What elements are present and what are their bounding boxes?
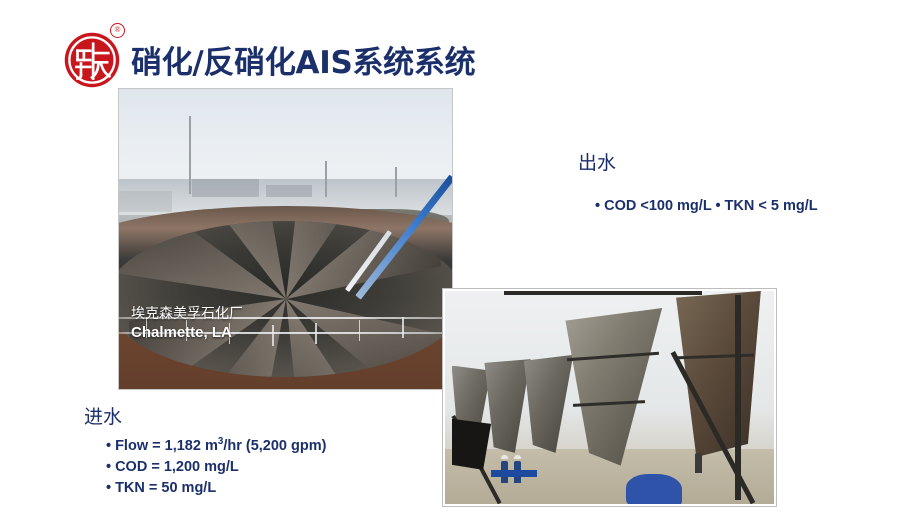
worker-figure <box>695 453 702 473</box>
worker-helmet <box>514 455 521 459</box>
page-title: 硝化/反硝化AIS系统系统 <box>131 37 475 82</box>
effluent-text-block: 出水 • COD <100 mg/L • TKN < 5 mg/L <box>578 152 908 214</box>
railing-post <box>272 325 274 346</box>
influent-cod: COD = 1,200 mg/L <box>115 459 239 475</box>
steel-hopper-cones-photo <box>443 289 776 506</box>
influent-flow-post: /hr (5,200 gpm) <box>223 438 326 454</box>
effluent-heading: 出水 <box>578 152 908 175</box>
bullet-glyph: • <box>106 438 111 454</box>
zhang-seal-icon <box>63 31 121 89</box>
list-item: •Flow = 1,182 m3/hr (5,200 gpm) <box>106 435 414 457</box>
worker-helmet <box>501 455 508 459</box>
influent-text-block: 进水 •Flow = 1,182 m3/hr (5,200 gpm) •COD … <box>84 406 414 500</box>
bullet-glyph: • <box>106 459 111 475</box>
overhead-beam <box>504 291 701 295</box>
registered-trademark-icon: ® <box>110 23 125 38</box>
caption-chinese: 埃克森美孚石化厂 <box>131 305 243 323</box>
slide-header: ® 硝化/反硝化AIS系统系统 <box>0 0 920 92</box>
photo-caption: 埃克森美孚石化厂 Chalmette, LA <box>131 305 243 343</box>
list-item: •TKN = 50 mg/L <box>106 478 414 499</box>
blue-equipment <box>491 470 537 477</box>
railing-post <box>315 323 317 344</box>
influent-bullet-list: •Flow = 1,182 m3/hr (5,200 gpm) •COD = 1… <box>106 435 414 500</box>
effluent-bullet-line: • COD <100 mg/L • TKN < 5 mg/L <box>595 198 908 214</box>
circular-steel-tank-photo: 埃克森美孚石化厂 Chalmette, LA <box>118 88 453 390</box>
caption-english: Chalmette, LA <box>131 323 243 343</box>
railing-post <box>402 317 404 338</box>
bullet-glyph: • <box>106 480 111 496</box>
influent-flow-pre: Flow = 1,182 m <box>115 438 218 454</box>
influent-heading: 进水 <box>84 406 414 429</box>
company-logo: ® <box>63 23 129 89</box>
slide-canvas: ® 硝化/反硝化AIS系统系统 <box>0 0 920 518</box>
list-item: •COD = 1,200 mg/L <box>106 457 414 478</box>
influent-tkn: TKN = 50 mg/L <box>115 480 216 496</box>
railing-post <box>359 320 361 341</box>
blue-tarp <box>626 474 682 506</box>
